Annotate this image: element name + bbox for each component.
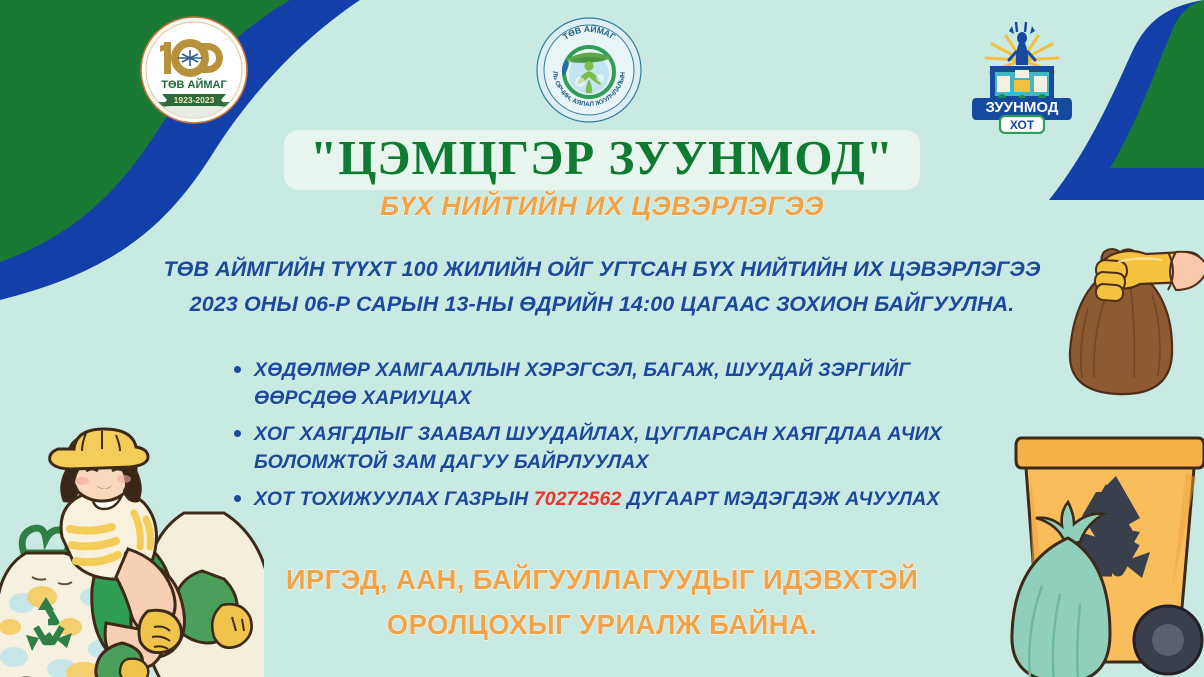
- contact-phone-number[interactable]: 70272562: [534, 488, 622, 510]
- list-item-line-1: ХӨДӨЛМӨР ХАМГААЛЛЫН ХЭРЭГСЭЛ, БАГАЖ, ШУУ…: [254, 357, 1002, 385]
- cta-line-2: ОРОЛЦОХЫГ УРИАЛЖ БАЙНА.: [0, 603, 1204, 648]
- svg-text:ЗУУНМОД: ЗУУНМОД: [986, 99, 1059, 116]
- intro-paragraph: ТӨВ АЙМГИЙН ТҮҮХТ 100 ЖИЛИЙН ОЙГ УГТСАН …: [0, 252, 1204, 322]
- intro-line-1: ТӨВ АЙМГИЙН ТҮҮХТ 100 ЖИЛИЙН ОЙГ УГТСАН …: [0, 252, 1204, 287]
- call-to-action: ИРГЭД, ААН, БАЙГУУЛЛАГУУДЫГ ИДЭВХТЭЙ ОРО…: [0, 558, 1204, 647]
- list-item-line-1: ХОТ ТОХИЖУУЛАХ ГАЗРЫН 70272562 ДУГААРТ М…: [254, 486, 1002, 514]
- intro-line-2: 2023 ОНЫ 06-Р САРЫН 13-НЫ ӨДРИЙН 14:00 Ц…: [0, 287, 1204, 322]
- environment-agency-logo: ТӨВ АЙМАГ БАЙГАЛЬ ОРЧИН, АЯЛАЛ ЖУУЛЧЛАЛЫ…: [530, 16, 648, 124]
- list-item-line-1: ХОГ ХАЯГДЛЫГ ЗААВАЛ ШУУДАЙЛАХ, ЦУГЛАРСАН…: [254, 421, 1002, 449]
- cta-line-1: ИРГЭД, ААН, БАЙГУУЛЛАГУУДЫГ ИДЭВХТЭЙ: [0, 558, 1204, 603]
- anniversary-100-logo: ТӨВ АЙМАГ 1923-2023: [140, 16, 248, 124]
- title-container: "ЦЭМЦГЭР ЗУУНМОД": [0, 130, 1204, 190]
- bullet-dot-icon: [234, 495, 241, 502]
- bullet-dot-icon: [234, 430, 241, 437]
- list-item-line-2: БОЛОМЖТОЙ ЗАМ ДАГУУ БАЙРЛУУЛАХ: [254, 449, 1002, 477]
- list-item-text-after-phone: ДУГААРТ МЭДЭГДЭЖ АЧУУЛАХ: [621, 488, 939, 510]
- list-item: ХОТ ТОХИЖУУЛАХ ГАЗРЫН 70272562 ДУГААРТ М…: [232, 486, 1002, 514]
- bullet-dot-icon: [234, 366, 241, 373]
- poster-canvas: ТӨВ АЙМАГ 1923-2023 ТӨВ АЙМАГ БАЙГАЛЬ ОР…: [0, 0, 1204, 677]
- page-title: "ЦЭМЦГЭР ЗУУНМОД": [284, 130, 920, 190]
- page-subtitle: БҮХ НИЙТИЙН ИХ ЦЭВЭРЛЭГЭЭ: [0, 191, 1204, 222]
- zuunmod-city-logo: ЗУУНМОД ХОТ: [968, 14, 1076, 134]
- list-item-text-before-phone: ХОТ ТОХИЖУУЛАХ ГАЗРЫН: [254, 488, 534, 510]
- list-item-line-2: ӨӨРСДӨӨ ХАРИУЦАХ: [254, 385, 1002, 413]
- svg-text:1923-2023: 1923-2023: [174, 95, 215, 105]
- instruction-list: ХӨДӨЛМӨР ХАМГААЛЛЫН ХЭРЭГСЭЛ, БАГАЖ, ШУУ…: [232, 357, 1002, 522]
- list-item: ХӨДӨЛМӨР ХАМГААЛЛЫН ХЭРЭГСЭЛ, БАГАЖ, ШУУ…: [232, 357, 1002, 412]
- svg-text:ТӨВ АЙМАГ: ТӨВ АЙМАГ: [161, 78, 227, 91]
- list-item: ХОГ ХАЯГДЛЫГ ЗААВАЛ ШУУДАЙЛАХ, ЦУГЛАРСАН…: [232, 421, 1002, 476]
